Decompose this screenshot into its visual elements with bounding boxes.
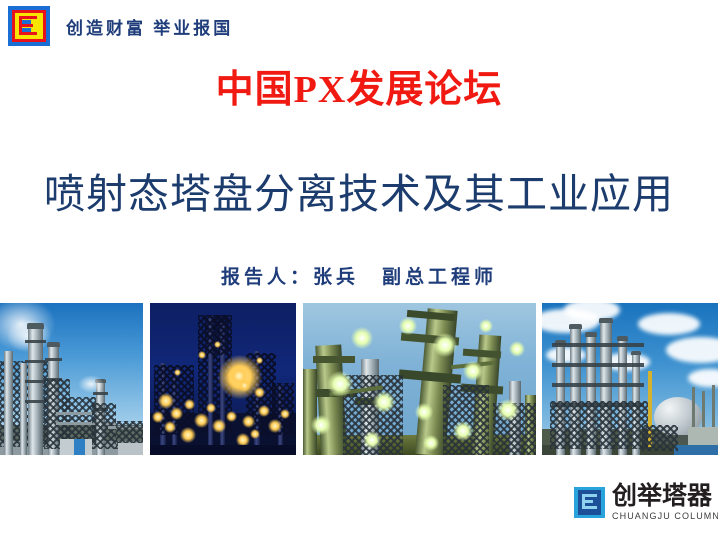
- company-emblem-icon: [8, 6, 50, 46]
- forum-title: 中国PX发展论坛: [0, 58, 718, 113]
- photo-strip: [0, 303, 718, 455]
- refinery-clouds-photo: [542, 303, 718, 455]
- presentation-slide: 创造财富 举业报国 中国PX发展论坛 喷射态塔盘分离技术及其工业应用 报告人：张…: [0, 0, 718, 534]
- brand-name-en: CHUANGJU COLUMN: [612, 512, 718, 521]
- refinery-daylight-photo: [0, 303, 143, 455]
- chuangju-mark-icon: [574, 487, 605, 518]
- brand-name-cn: 创举塔器: [612, 484, 718, 509]
- page-title: 喷射态塔盘分离技术及其工业应用: [0, 160, 718, 220]
- refinery-night-photo: [150, 303, 296, 455]
- refinery-dusk-towers-photo: [303, 303, 536, 455]
- chuangju-column-logo: 创举塔器 CHUANGJU COLUMN: [574, 484, 718, 521]
- company-slogan: 创造财富 举业报国: [66, 14, 233, 39]
- slide-header: 创造财富 举业报国: [8, 6, 233, 46]
- presenter-line: 报告人：张兵 副总工程师: [0, 262, 718, 289]
